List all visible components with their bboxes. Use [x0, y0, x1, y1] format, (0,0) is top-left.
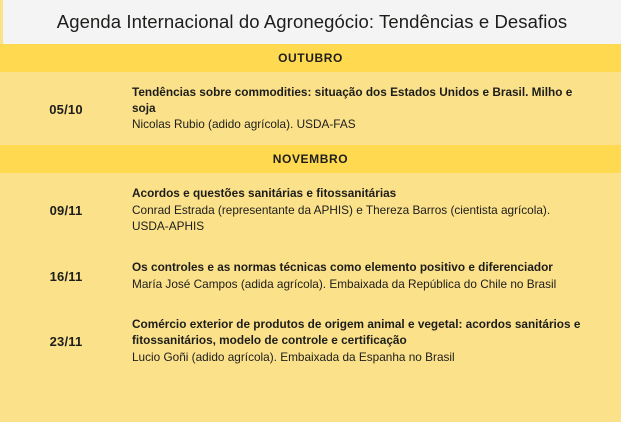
agenda-row: 09/11 Acordos e questões sanitárias e fi… — [0, 173, 621, 247]
agenda-row: 23/11 Comércio exterior de produtos de o… — [0, 304, 621, 377]
month-header-outubro: OUTUBRO — [0, 44, 621, 72]
agenda-row-date-cell: 05/10 — [0, 102, 132, 117]
agenda-row-body: Comércio exterior de produtos de origem … — [132, 317, 621, 365]
agenda-row-title: Acordos e questões sanitárias e fitossan… — [132, 186, 581, 202]
month-header-label: NOVEMBRO — [273, 152, 348, 166]
agenda-row-date: 05/10 — [49, 102, 83, 117]
agenda-row-date: 16/11 — [50, 269, 83, 284]
page-title: Agenda Internacional do Agronegócio: Ten… — [57, 11, 567, 33]
agenda-row-title: Comércio exterior de produtos de origem … — [132, 317, 581, 348]
agenda-row-speaker: Conrad Estrada (representante da APHIS) … — [132, 203, 581, 235]
section-entries-outubro: 05/10 Tendências sobre commodities: situ… — [0, 72, 621, 145]
month-header-novembro: NOVEMBRO — [0, 145, 621, 173]
month-header-label: OUTUBRO — [278, 51, 343, 65]
agenda-row-date: 23/11 — [50, 334, 83, 349]
agenda-row-date-cell: 16/11 — [0, 269, 132, 284]
agenda-row: 16/11 Os controles e as normas técnicas … — [0, 247, 621, 305]
agenda-row-speaker: Nicolas Rubio (adido agrícola). USDA-FAS — [132, 117, 581, 133]
agenda-row-title: Tendências sobre commodities: situação d… — [132, 85, 581, 116]
agenda-row-date: 09/11 — [50, 203, 83, 218]
agenda-row-date-cell: 23/11 — [0, 334, 132, 349]
agenda-row-body: Tendências sobre commodities: situação d… — [132, 85, 621, 133]
agenda-row-body: Os controles e as normas técnicas como e… — [132, 260, 621, 293]
section-entries-novembro: 09/11 Acordos e questões sanitárias e fi… — [0, 173, 621, 377]
agenda-row-speaker: Lucio Goñi (adido agrícola). Embaixada d… — [132, 350, 581, 366]
agenda-row-speaker: María José Campos (adida agrícola). Emba… — [132, 277, 581, 293]
agenda-document: Agenda Internacional do Agronegócio: Ten… — [0, 0, 621, 422]
agenda-row-title: Os controles e as normas técnicas como e… — [132, 260, 581, 276]
agenda-row-body: Acordos e questões sanitárias e fitossan… — [132, 186, 621, 235]
agenda-row: 05/10 Tendências sobre commodities: situ… — [0, 72, 621, 145]
agenda-row-date-cell: 09/11 — [0, 203, 132, 218]
document-title-bar: Agenda Internacional do Agronegócio: Ten… — [0, 0, 621, 44]
